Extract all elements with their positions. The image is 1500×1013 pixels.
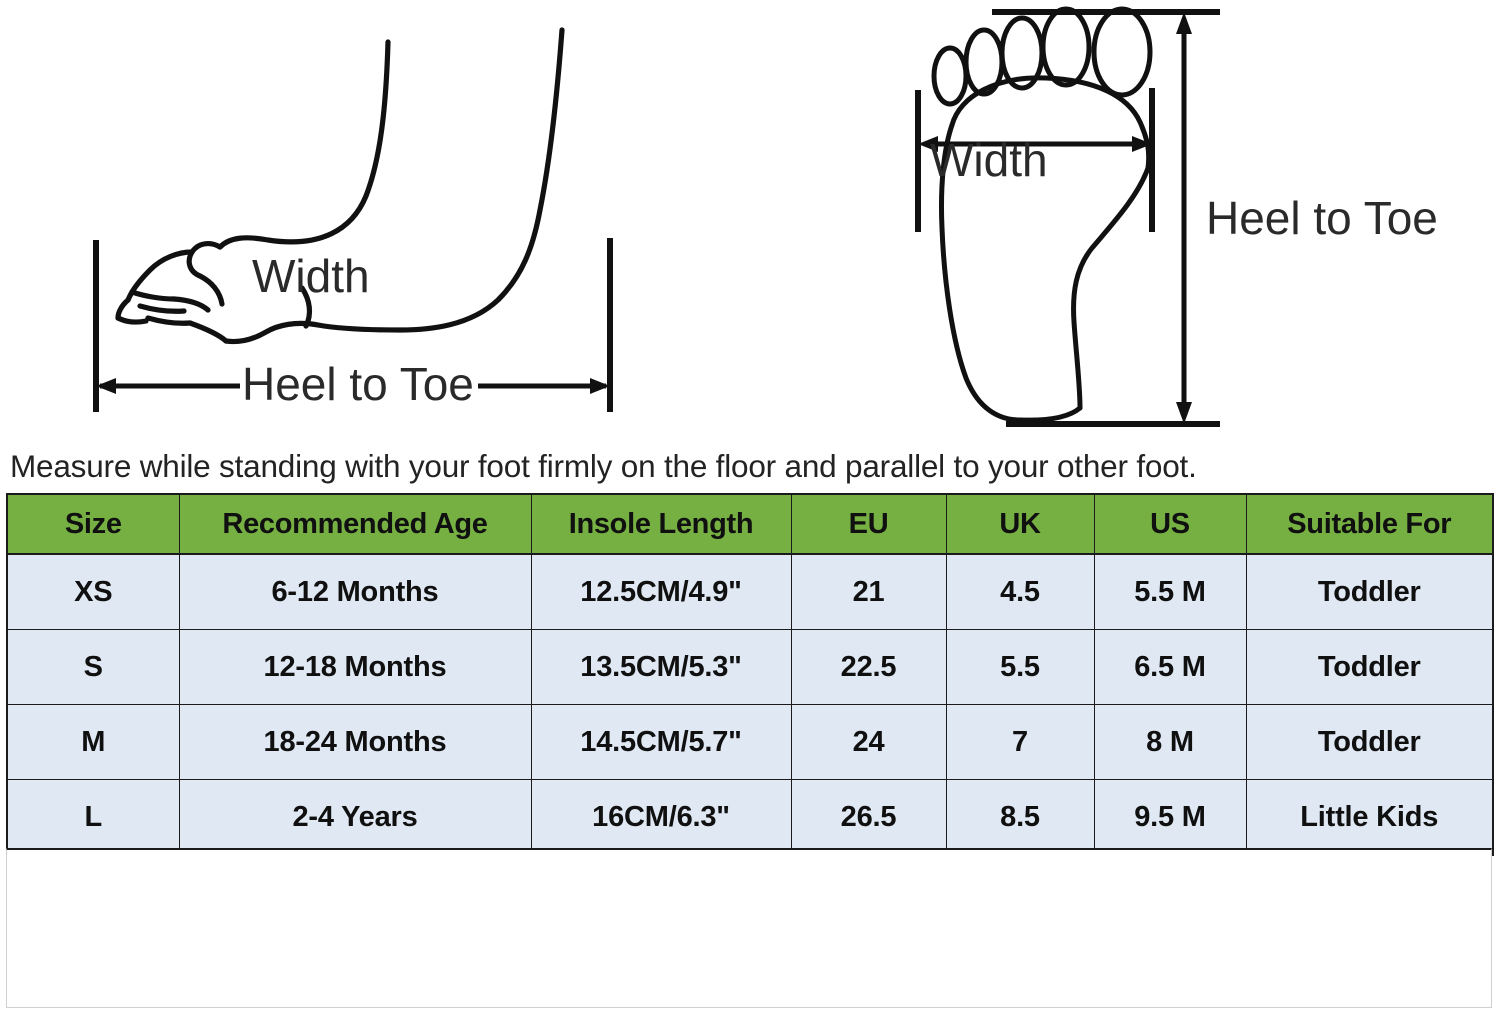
table-row: L 2-4 Years 16CM/6.3" 26.5 8.5 9.5 M Lit…	[7, 780, 1493, 856]
column-header-us: US	[1094, 494, 1246, 554]
column-header-age: Recommended Age	[179, 494, 531, 554]
top-view-heel-to-toe-label: Heel to Toe	[1206, 192, 1438, 244]
foot-sole-outline	[941, 78, 1148, 420]
toe-2	[1043, 9, 1089, 85]
top-view-width-label: Width	[930, 134, 1048, 186]
toe-big	[1094, 9, 1150, 95]
side-view-heel-to-toe-label: Heel to Toe	[242, 358, 474, 410]
empty-lower-panel	[6, 848, 1492, 1008]
cell-insole: 14.5CM/5.7"	[531, 705, 791, 780]
cell-insole: 16CM/6.3"	[531, 780, 791, 856]
cell-age: 12-18 Months	[179, 630, 531, 705]
cell-uk: 8.5	[946, 780, 1094, 856]
cell-eu: 22.5	[791, 630, 946, 705]
toe-4	[966, 30, 1002, 94]
toes-group	[934, 9, 1150, 104]
side-view-width-label: Width	[252, 250, 370, 302]
cell-size: M	[7, 705, 179, 780]
cell-age: 18-24 Months	[179, 705, 531, 780]
measurement-diagrams: Width Heel to Toe	[0, 0, 1500, 440]
measurement-instruction-text: Measure while standing with your foot fi…	[10, 444, 1494, 488]
cell-insole: 13.5CM/5.3"	[531, 630, 791, 705]
cell-suitable: Little Kids	[1246, 780, 1493, 856]
cell-us: 5.5 M	[1094, 554, 1246, 630]
column-header-eu: EU	[791, 494, 946, 554]
cell-suitable: Toddler	[1246, 705, 1493, 780]
cell-us: 8 M	[1094, 705, 1246, 780]
cell-insole: 12.5CM/4.9"	[531, 554, 791, 630]
foot-side-view-diagram: Width Heel to Toe	[70, 0, 640, 435]
cell-suitable: Toddler	[1246, 554, 1493, 630]
cell-uk: 7	[946, 705, 1094, 780]
size-chart-container: Size Recommended Age Insole Length EU UK…	[6, 493, 1492, 856]
cell-suitable: Toddler	[1246, 630, 1493, 705]
cell-us: 6.5 M	[1094, 630, 1246, 705]
cell-age: 2-4 Years	[179, 780, 531, 856]
table-row: XS 6-12 Months 12.5CM/4.9" 21 4.5 5.5 M …	[7, 554, 1493, 630]
table-row: S 12-18 Months 13.5CM/5.3" 22.5 5.5 6.5 …	[7, 630, 1493, 705]
size-chart-table: Size Recommended Age Insole Length EU UK…	[6, 493, 1494, 856]
cell-age: 6-12 Months	[179, 554, 531, 630]
column-header-uk: UK	[946, 494, 1094, 554]
cell-eu: 24	[791, 705, 946, 780]
heel-to-toe-dimension-line	[1176, 12, 1192, 424]
cell-us: 9.5 M	[1094, 780, 1246, 856]
toe-5	[934, 48, 966, 104]
cell-size: L	[7, 780, 179, 856]
cell-size: XS	[7, 554, 179, 630]
foot-top-view-diagram: Width Heel to Toe	[900, 0, 1500, 440]
column-header-size: Size	[7, 494, 179, 554]
column-header-insole: Insole Length	[531, 494, 791, 554]
table-row: M 18-24 Months 14.5CM/5.7" 24 7 8 M Todd…	[7, 705, 1493, 780]
column-header-suitable: Suitable For	[1246, 494, 1493, 554]
cell-uk: 5.5	[946, 630, 1094, 705]
cell-eu: 21	[791, 554, 946, 630]
table-header-row: Size Recommended Age Insole Length EU UK…	[7, 494, 1493, 554]
cell-size: S	[7, 630, 179, 705]
cell-eu: 26.5	[791, 780, 946, 856]
cell-uk: 4.5	[946, 554, 1094, 630]
